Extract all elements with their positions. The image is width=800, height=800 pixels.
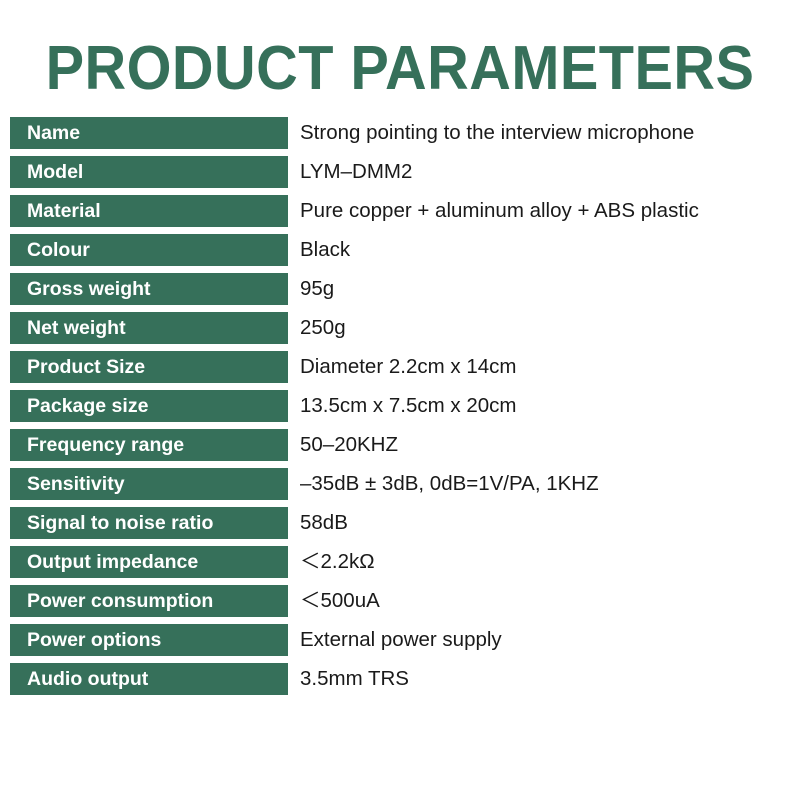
table-row: Package size13.5cm x 7.5cm x 20cm xyxy=(0,390,800,422)
table-row: Power optionsExternal power supply xyxy=(0,624,800,656)
spec-label: Frequency range xyxy=(10,429,288,461)
spec-label: Material xyxy=(10,195,288,227)
table-row: Product SizeDiameter 2.2cm x 14cm xyxy=(0,351,800,383)
spec-label: Model xyxy=(10,156,288,188)
spec-value: 95g xyxy=(300,273,334,305)
table-row: Sensitivity–35dB ± 3dB, 0dB=1V/PA, 1KHZ xyxy=(0,468,800,500)
spec-value: 58dB xyxy=(300,507,348,539)
spec-value: ＜500uA xyxy=(300,585,380,617)
spec-label: Product Size xyxy=(10,351,288,383)
spec-table: NameStrong pointing to the interview mic… xyxy=(0,117,800,702)
spec-value: Pure copper + aluminum alloy + ABS plast… xyxy=(300,195,699,227)
spec-value: Black xyxy=(300,234,350,266)
spec-label: Signal to noise ratio xyxy=(10,507,288,539)
spec-label: Audio output xyxy=(10,663,288,695)
spec-label: Gross weight xyxy=(10,273,288,305)
spec-value: 13.5cm x 7.5cm x 20cm xyxy=(300,390,516,422)
spec-label: Power consumption xyxy=(10,585,288,617)
spec-value: Strong pointing to the interview microph… xyxy=(300,117,694,149)
spec-label: Name xyxy=(10,117,288,149)
table-row: Power consumption＜500uA xyxy=(0,585,800,617)
table-row: Frequency range50–20KHZ xyxy=(0,429,800,461)
page-title: PRODUCT PARAMETERS xyxy=(28,37,772,101)
spec-value: 3.5mm TRS xyxy=(300,663,409,695)
spec-value: ＜2.2kΩ xyxy=(300,546,375,578)
spec-label: Output impedance xyxy=(10,546,288,578)
table-row: Output impedance＜2.2kΩ xyxy=(0,546,800,578)
spec-value: LYM–DMM2 xyxy=(300,156,412,188)
table-row: Net weight250g xyxy=(0,312,800,344)
spec-label: Colour xyxy=(10,234,288,266)
spec-value: 250g xyxy=(300,312,346,344)
table-row: NameStrong pointing to the interview mic… xyxy=(0,117,800,149)
table-row: Gross weight95g xyxy=(0,273,800,305)
spec-value: External power supply xyxy=(300,624,502,656)
table-row: MaterialPure copper + aluminum alloy + A… xyxy=(0,195,800,227)
table-row: ModelLYM–DMM2 xyxy=(0,156,800,188)
spec-value: Diameter 2.2cm x 14cm xyxy=(300,351,516,383)
spec-value: 50–20KHZ xyxy=(300,429,398,461)
spec-value: –35dB ± 3dB, 0dB=1V/PA, 1KHZ xyxy=(300,468,599,500)
table-row: Audio output3.5mm TRS xyxy=(0,663,800,695)
table-row: Signal to noise ratio58dB xyxy=(0,507,800,539)
spec-label: Package size xyxy=(10,390,288,422)
spec-label: Power options xyxy=(10,624,288,656)
table-row: ColourBlack xyxy=(0,234,800,266)
spec-label: Sensitivity xyxy=(10,468,288,500)
spec-label: Net weight xyxy=(10,312,288,344)
product-parameters-page: PRODUCT PARAMETERS NameStrong pointing t… xyxy=(0,0,800,800)
